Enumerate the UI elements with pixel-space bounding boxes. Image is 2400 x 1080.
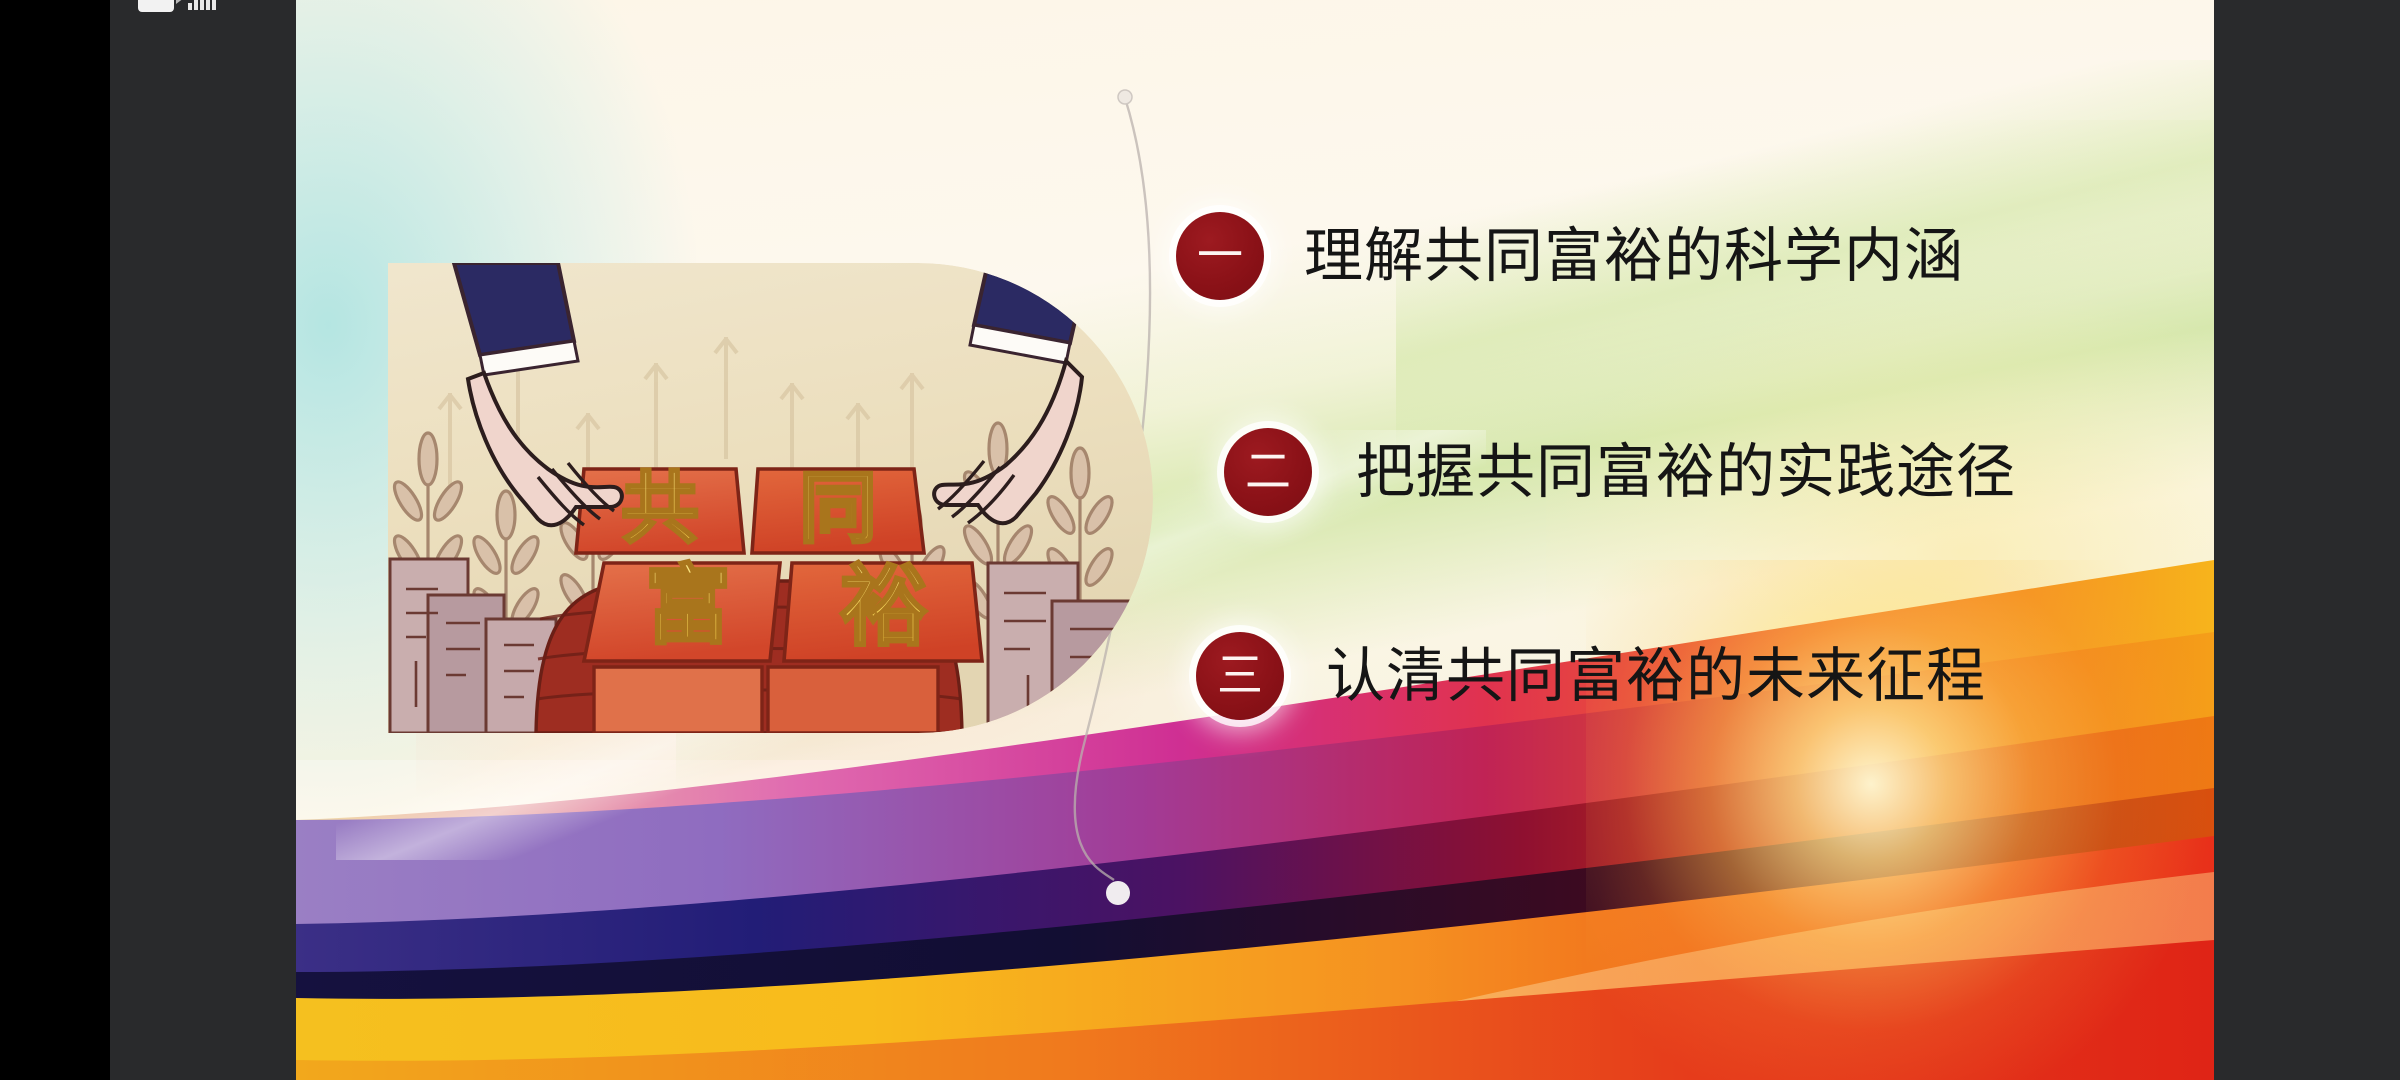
illus-char-yu: 裕 (840, 555, 928, 658)
agenda-item-3[interactable]: 三 认清共同富裕的未来征程 (1196, 632, 1986, 720)
agenda-badge-3: 三 (1196, 632, 1284, 720)
illus-char-gong: 共 (621, 464, 699, 554)
signal-bars-icon (188, 0, 216, 10)
agenda-heading-2: 把握共同富裕的实践途径 (1356, 441, 2016, 503)
player-black-edge (0, 0, 110, 1080)
agenda-number-3: 三 (1217, 653, 1263, 699)
agenda-item-1[interactable]: 一 理解共同富裕的科学内涵 (1176, 212, 1964, 300)
common-prosperity-illustration: 富 裕 共 同 (388, 263, 1153, 733)
agenda-heading-3: 认清共同富裕的未来征程 (1326, 645, 1986, 707)
player-letterbox-right (2214, 0, 2400, 1080)
play-triangle-icon[interactable] (176, 0, 184, 4)
video-player[interactable]: 富 裕 共 同 (0, 0, 2400, 1080)
agenda-badge-2: 二 (1224, 428, 1312, 516)
agenda-heading-1: 理解共同富裕的科学内涵 (1304, 225, 1964, 287)
agenda-item-2[interactable]: 二 把握共同富裕的实践途径 (1224, 428, 2016, 516)
agenda-number-2: 二 (1245, 449, 1291, 495)
player-top-chrome (110, 0, 296, 18)
cast-icon[interactable] (138, 0, 174, 12)
player-letterbox-left (110, 0, 296, 1080)
agenda-number-1: 一 (1197, 233, 1243, 279)
slide-canvas: 富 裕 共 同 (296, 0, 2214, 1080)
agenda-badge-1: 一 (1176, 212, 1264, 300)
illus-char-fu: 富 (645, 556, 731, 656)
illus-char-tong: 同 (799, 464, 877, 554)
